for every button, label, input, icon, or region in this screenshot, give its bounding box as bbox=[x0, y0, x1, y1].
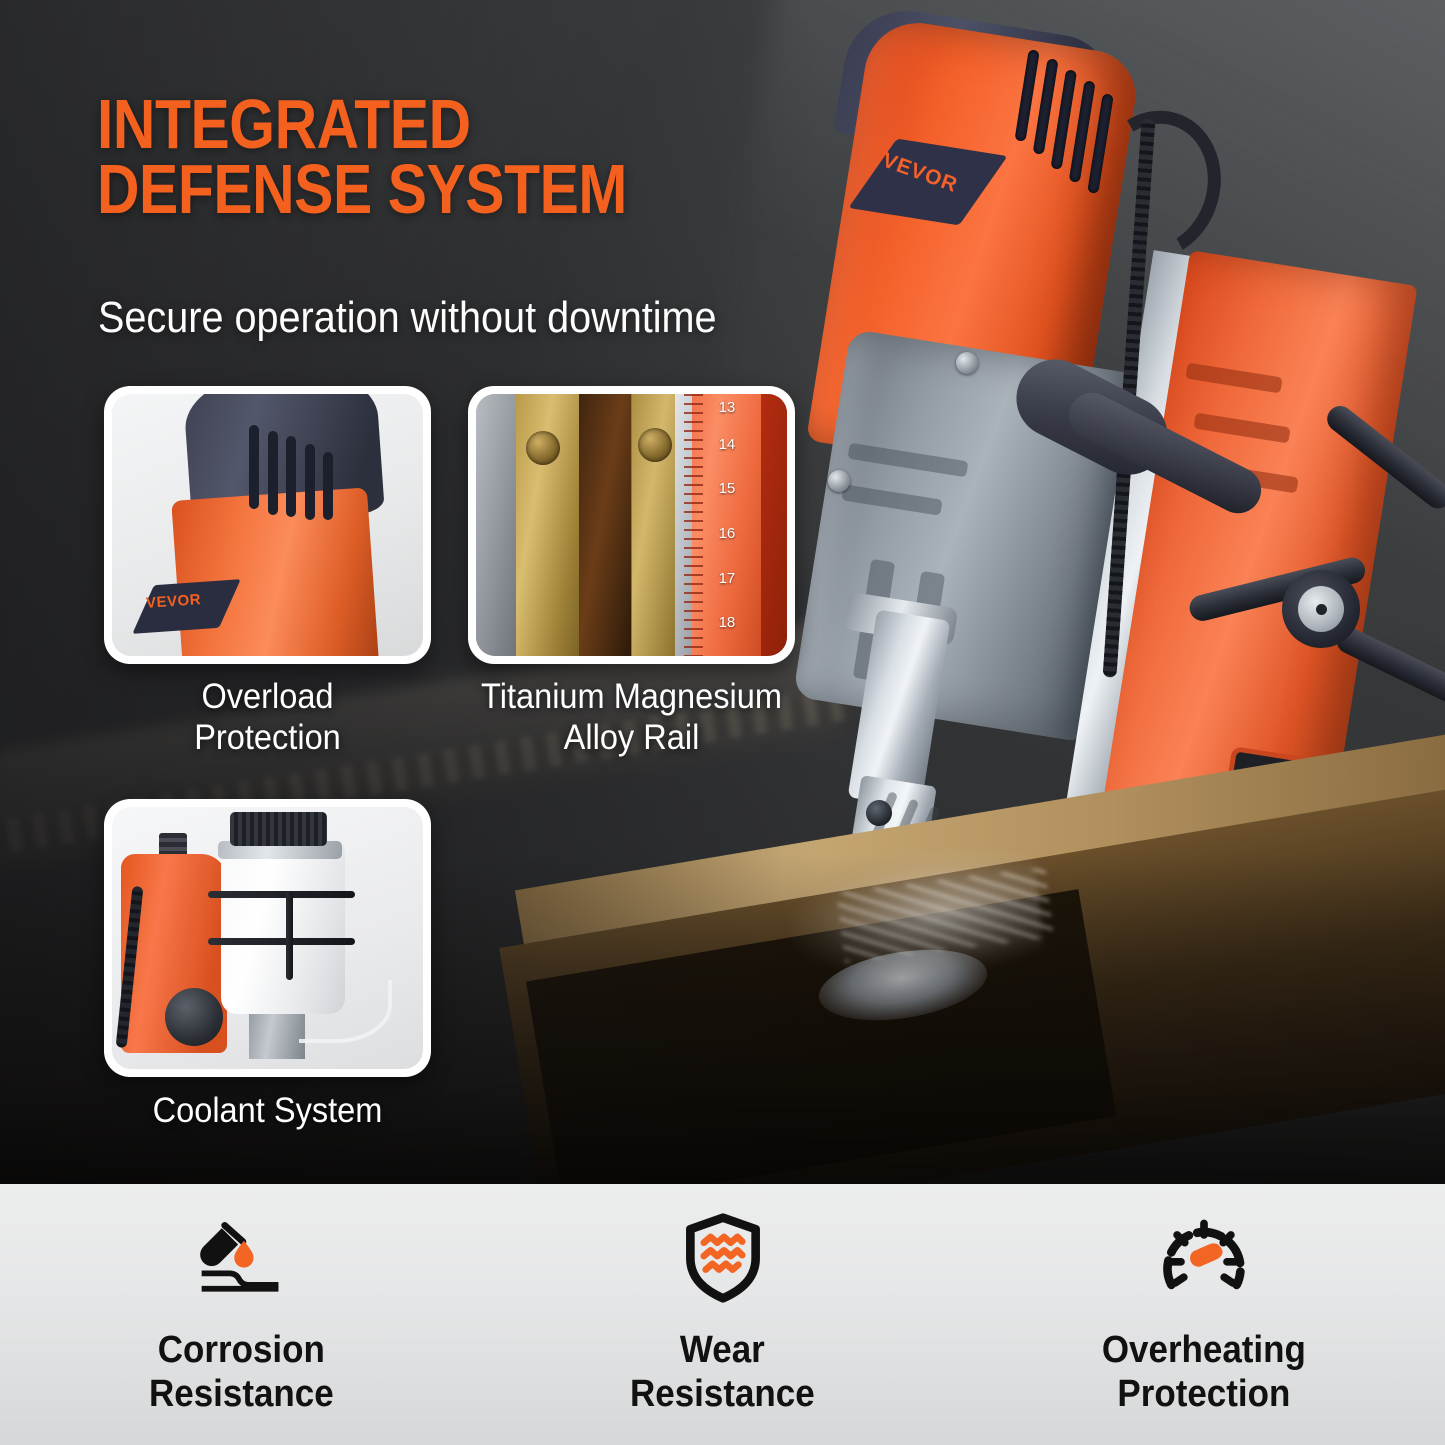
caption-line-1: Overload bbox=[115, 676, 419, 717]
rail-mark-15: 15 bbox=[719, 480, 736, 497]
rail-mark-16: 16 bbox=[719, 525, 736, 542]
coolant-bottle-cap[interactable] bbox=[230, 812, 326, 846]
label-line-2: Protection bbox=[1102, 1372, 1306, 1416]
bottom-feature-label-wear: Wear Resistance bbox=[630, 1328, 815, 1416]
rail-mark-14: 14 bbox=[719, 436, 736, 453]
bottom-feature-bar: Corrosion Resistance Wear Resistance bbox=[0, 1184, 1445, 1445]
gauge-icon bbox=[1156, 1210, 1252, 1306]
coolant-flow-dial[interactable] bbox=[165, 988, 223, 1046]
caption-line-2: Alloy Rail bbox=[461, 717, 802, 758]
bottom-feature-label-corrosion: Corrosion Resistance bbox=[149, 1328, 334, 1416]
caption-line-1: Coolant System bbox=[115, 1090, 419, 1131]
caption-line-2: Protection bbox=[115, 717, 419, 758]
feature-card-coolant-system bbox=[104, 799, 431, 1077]
feed-handle-center-hole bbox=[1316, 604, 1327, 615]
coolant-system-image bbox=[112, 807, 423, 1069]
bottom-feature-label-overheating: Overheating Protection bbox=[1102, 1328, 1306, 1416]
label-line-1: Corrosion bbox=[149, 1328, 334, 1372]
page-subtitle: Secure operation without downtime bbox=[98, 293, 836, 343]
feature-card-caption-overload: Overload Protection bbox=[115, 676, 419, 759]
feature-card-titanium-rail: 13 14 15 16 17 18 bbox=[468, 386, 795, 664]
feature-card-caption-coolant: Coolant System bbox=[115, 1090, 419, 1131]
headline-line-2: DEFENSE SYSTEM bbox=[97, 157, 752, 222]
shield-waves-icon bbox=[675, 1210, 771, 1306]
rail-scale-ticks bbox=[684, 394, 703, 656]
page-title: INTEGRATED DEFENSE SYSTEM bbox=[97, 92, 752, 222]
test-tube-droplet-icon bbox=[193, 1210, 289, 1306]
label-line-1: Wear bbox=[630, 1328, 815, 1372]
rail-mark-13: 13 bbox=[719, 399, 736, 416]
label-line-2: Resistance bbox=[149, 1372, 334, 1416]
label-line-2: Resistance bbox=[630, 1372, 815, 1416]
label-line-1: Overheating bbox=[1102, 1328, 1306, 1372]
caption-line-1: Titanium Magnesium bbox=[461, 676, 802, 717]
rail-mark-17: 17 bbox=[719, 570, 736, 587]
bottom-feature-overheating-protection: Overheating Protection bbox=[963, 1184, 1445, 1445]
feature-card-overload-protection: VEVOR bbox=[104, 386, 431, 664]
titanium-rail-image: 13 14 15 16 17 18 bbox=[476, 394, 787, 656]
overload-protection-image: VEVOR bbox=[112, 394, 423, 656]
feature-card-caption-rail: Titanium Magnesium Alloy Rail bbox=[461, 676, 802, 759]
rail-mark-18: 18 bbox=[719, 614, 736, 631]
bottom-feature-corrosion-resistance: Corrosion Resistance bbox=[0, 1184, 482, 1445]
product-feature-graphic: VEVOR 2 3 4 5 bbox=[0, 0, 1445, 1445]
bottom-feature-wear-resistance: Wear Resistance bbox=[482, 1184, 964, 1445]
